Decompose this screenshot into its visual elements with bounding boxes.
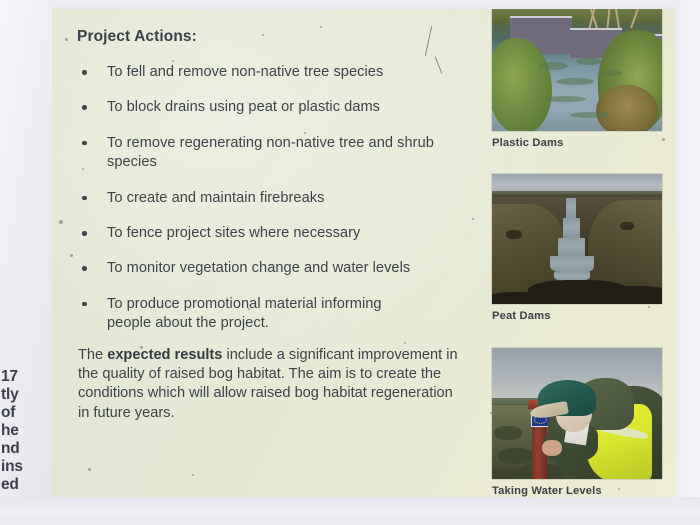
list-item: To block drains using peat or plastic da…: [74, 98, 489, 117]
list-item-label: To produce promotional material informin…: [107, 296, 382, 331]
fragment-text: of: [0, 404, 40, 422]
photo-block-peat-dams: Peat Dams: [492, 174, 662, 322]
peat-dam-photo: [492, 174, 662, 304]
photograph-of-information-sign: 17 tly of he nd ins ed r a: [0, 0, 700, 525]
adjacent-panel-left: 17 tly of he nd ins ed r a: [0, 0, 53, 525]
taking-water-levels-photo: [492, 348, 662, 479]
photo-caption: Peat Dams: [492, 310, 662, 322]
plastic-dam-photo: [492, 0, 662, 131]
list-item-label: To remove regenerating non-native tree a…: [107, 135, 434, 170]
photo-block-plastic-dams: Plastic Dams: [492, 0, 662, 149]
fragment-text: ins: [0, 458, 40, 476]
list-item-label: To fell and remove non-native tree speci…: [107, 64, 383, 80]
fragment-text: he: [0, 422, 40, 440]
list-item-label: To monitor vegetation change and water l…: [107, 260, 410, 276]
fragment-text: nd: [0, 440, 40, 458]
list-item: To monitor vegetation change and water l…: [74, 259, 489, 278]
fragment-text: 17: [0, 368, 40, 386]
bullet-icon: [82, 302, 87, 307]
board-top-edge: [52, 0, 700, 9]
project-actions-list: To fell and remove non-native tree speci…: [74, 63, 489, 334]
fragment-text: ed: [0, 476, 40, 494]
information-sign-panel: Project Actions: To fell and remove non-…: [52, 3, 700, 502]
list-item: To fell and remove non-native tree speci…: [74, 63, 489, 82]
list-item-label: To block drains using peat or plastic da…: [107, 99, 380, 115]
bullet-icon: [82, 141, 87, 146]
list-item: To fence project sites where necessary: [74, 224, 489, 243]
list-item-label: To fence project sites where necessary: [107, 225, 360, 241]
page-title: Project Actions:: [74, 28, 489, 46]
fragment-text: tly: [0, 386, 40, 404]
bullet-icon: [82, 70, 87, 75]
photo-caption: Plastic Dams: [492, 137, 662, 149]
photo-block-taking-water-levels: Taking Water Levels: [492, 348, 662, 497]
bullet-icon: [82, 231, 87, 236]
paragraph-bold-phrase: expected results: [107, 347, 222, 363]
photo-caption: Taking Water Levels: [492, 485, 662, 497]
list-item-label: To create and maintain firebreaks: [107, 190, 324, 206]
expected-results-paragraph: The expected results include a significa…: [74, 346, 464, 424]
bullet-icon: [82, 105, 87, 110]
list-item: To create and maintain firebreaks: [74, 189, 489, 208]
bullet-icon: [82, 266, 87, 271]
list-item: To remove regenerating non-native tree a…: [74, 134, 439, 173]
list-item: To produce promotional material informin…: [74, 295, 424, 334]
board-right-edge: [676, 0, 700, 525]
sign-text-column: Project Actions: To fell and remove non-…: [74, 28, 489, 423]
bullet-icon: [82, 196, 87, 201]
paragraph-lead: The: [78, 347, 107, 363]
board-bottom-edge: [0, 497, 700, 525]
